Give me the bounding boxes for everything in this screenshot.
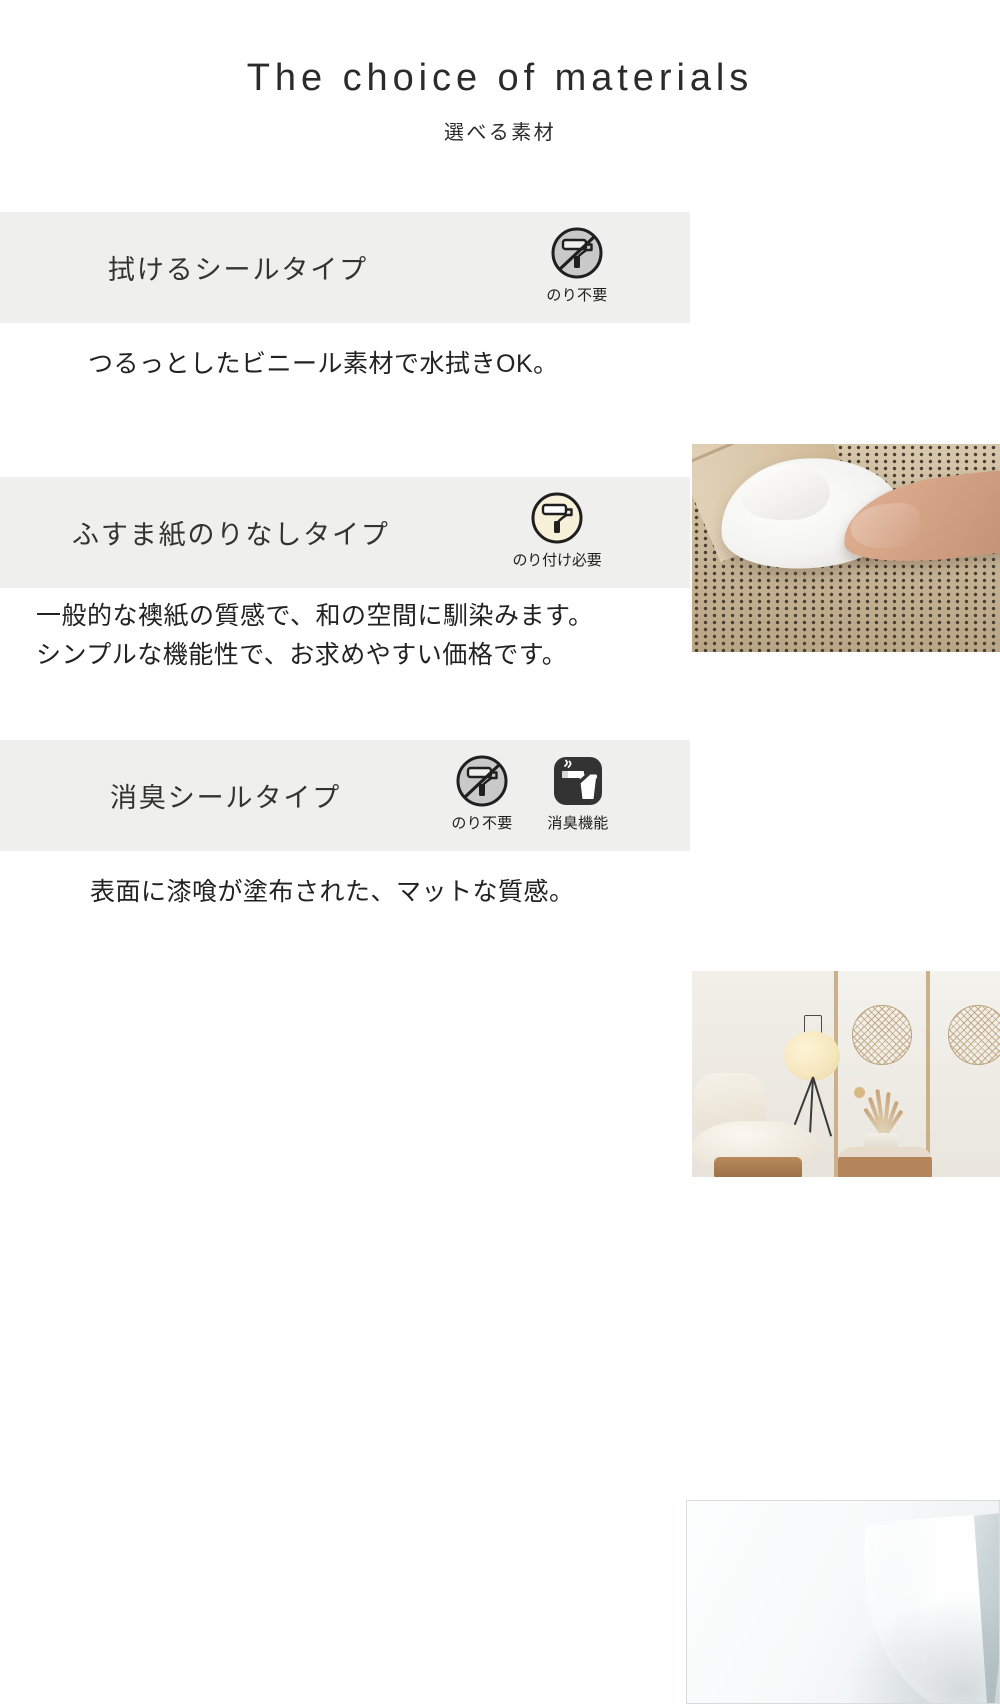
section-title: 消臭シールタイプ [110,776,341,815]
section-description: 一般的な襖紙の質感で、和の空間に馴染みます。 シンプルな機能性で、お求めやすい価… [36,597,594,675]
paper-lantern-shade [784,1031,840,1081]
badge-label: のり不要 [546,284,607,305]
badge-group: のり不要 [538,226,616,305]
section-description: つるっとしたビニール素材で水拭きOK。 [88,345,559,384]
section-title-band: ふすま紙のりなしタイプ のり付け必要 [0,477,690,588]
roller-no-glue-icon [455,754,509,808]
page-header: The choice of materials 選べる素材 [0,0,1000,145]
section-description: 表面に漆喰が塗布された、マットな質感。 [90,873,575,912]
badge-no-glue: のり不要 [443,754,521,833]
section-title-band: 拭けるシールタイプ のり不要 [0,212,690,323]
sheet-container [687,1501,999,1703]
badge-no-glue: のり不要 [538,226,616,305]
badge-label: 消臭機能 [547,812,608,833]
roller-glue-required-icon [530,491,584,545]
dried-grass-plant [842,1081,924,1137]
badge-group: のり不要 [443,754,617,833]
badge-group: のり付け必要 [518,491,596,570]
section-title-band: 消臭シールタイプ のり不要 [0,740,690,851]
page-subtitle: 選べる素材 [0,116,1000,145]
section-title: ふすま紙のりなしタイプ [72,513,390,552]
page-title: The choice of materials [0,56,1000,102]
sheet-shadow [829,1583,999,1703]
fusuma-panel [926,971,1000,1177]
photo-wiping-rattan-surface [692,444,1000,652]
wooden-side-table [838,1147,932,1177]
photo-japanese-room-interior [692,971,1000,1177]
section-title: 拭けるシールタイプ [108,248,368,287]
badge-label: のり不要 [451,812,512,833]
photo-white-curled-sheet [686,1500,1000,1704]
badge-label: のり付け必要 [512,549,601,570]
description-line: つるっとしたビニール素材で水拭きOK。 [88,345,559,384]
description-line: 表面に漆喰が塗布された、マットな質感。 [90,873,575,912]
badge-glue-required: のり付け必要 [518,491,596,570]
description-line: シンプルな機能性で、お求めやすい価格です。 [36,636,594,675]
deodorize-icon [551,754,605,808]
roller-no-glue-icon [550,226,604,280]
lattice-circle-decoration [852,1005,912,1065]
chair-base [714,1157,802,1177]
description-line: 一般的な襖紙の質感で、和の空間に馴染みます。 [36,597,594,636]
badge-deodorize: 消臭機能 [539,754,617,833]
